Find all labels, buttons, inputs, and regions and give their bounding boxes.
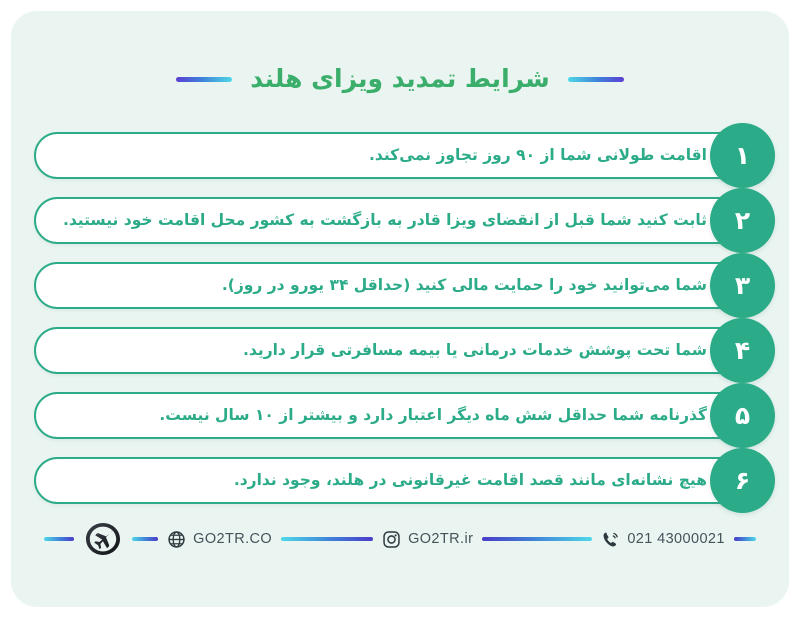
list-item-pill: ثابت کنید شما قبل از انقضای ویزا قادر به… — [34, 197, 743, 244]
page-title: شرایط تمدید ویزای هلند — [250, 64, 550, 94]
list-item-pill: شما می‌توانید خود را حمایت مالی کنید (حد… — [34, 262, 743, 309]
list-item-label: هیچ نشانه‌ای مانند قصد اقامت غیرقانونی د… — [234, 471, 707, 490]
go2tr-airplane-logo-icon — [74, 519, 132, 559]
list-item-number-badge: ۱ — [710, 123, 775, 188]
phone-call-icon — [601, 530, 620, 549]
list-item-label: شما تحت پوشش خدمات درمانی یا بیمه مسافرت… — [243, 341, 707, 360]
gradient-dash-icon-left — [176, 77, 232, 82]
gradient-divider-icon — [482, 537, 592, 541]
footer-contact-bar: GO2TR.CO GO2TR.ir 021 43000021 — [11, 519, 789, 559]
footer-instagram-item[interactable]: GO2TR.ir — [373, 530, 482, 549]
list-item: ثابت کنید شما قبل از انقضای ویزا قادر به… — [11, 188, 789, 253]
globe-icon — [167, 530, 186, 549]
list-item-number-badge: ۴ — [710, 318, 775, 383]
gradient-divider-icon — [734, 537, 756, 541]
list-item: شما تحت پوشش خدمات درمانی یا بیمه مسافرت… — [11, 318, 789, 383]
list-item-number-badge: ۲ — [710, 188, 775, 253]
list-item-number-badge: ۶ — [710, 448, 775, 513]
list-item-number-badge: ۳ — [710, 253, 775, 318]
infographic-page: شرایط تمدید ویزای هلند اقامت طولانی شما … — [0, 0, 800, 618]
list-item-label: اقامت طولانی شما از ۹۰ روز تجاوز نمی‌کند… — [369, 146, 707, 165]
conditions-list: اقامت طولانی شما از ۹۰ روز تجاوز نمی‌کند… — [11, 123, 789, 513]
list-item: هیچ نشانه‌ای مانند قصد اقامت غیرقانونی د… — [11, 448, 789, 513]
list-item-label: گذرنامه شما حداقل شش ماه دیگر اعتبار دار… — [159, 406, 707, 425]
list-item-pill: اقامت طولانی شما از ۹۰ روز تجاوز نمی‌کند… — [34, 132, 743, 179]
list-item-label: شما می‌توانید خود را حمایت مالی کنید (حد… — [222, 276, 707, 295]
gradient-divider-icon — [44, 537, 74, 541]
footer-phone-item[interactable]: 021 43000021 — [592, 530, 734, 549]
footer-website-label: GO2TR.CO — [193, 531, 272, 547]
footer-phone-label: 021 43000021 — [627, 531, 725, 547]
list-item-label: ثابت کنید شما قبل از انقضای ویزا قادر به… — [63, 211, 707, 230]
list-item-pill: گذرنامه شما حداقل شش ماه دیگر اعتبار دار… — [34, 392, 743, 439]
instagram-icon — [382, 530, 401, 549]
footer-website-item[interactable]: GO2TR.CO — [158, 530, 281, 549]
gradient-dash-icon-right — [568, 77, 624, 82]
list-item-number-badge: ۵ — [710, 383, 775, 448]
page-title-row: شرایط تمدید ویزای هلند — [11, 57, 789, 101]
list-item: شما می‌توانید خود را حمایت مالی کنید (حد… — [11, 253, 789, 318]
footer-instagram-label: GO2TR.ir — [408, 531, 473, 547]
list-item: اقامت طولانی شما از ۹۰ روز تجاوز نمی‌کند… — [11, 123, 789, 188]
infographic-card: شرایط تمدید ویزای هلند اقامت طولانی شما … — [11, 11, 789, 607]
list-item: گذرنامه شما حداقل شش ماه دیگر اعتبار دار… — [11, 383, 789, 448]
list-item-pill: هیچ نشانه‌ای مانند قصد اقامت غیرقانونی د… — [34, 457, 743, 504]
list-item-pill: شما تحت پوشش خدمات درمانی یا بیمه مسافرت… — [34, 327, 743, 374]
gradient-divider-icon — [281, 537, 373, 541]
gradient-divider-icon — [132, 537, 158, 541]
